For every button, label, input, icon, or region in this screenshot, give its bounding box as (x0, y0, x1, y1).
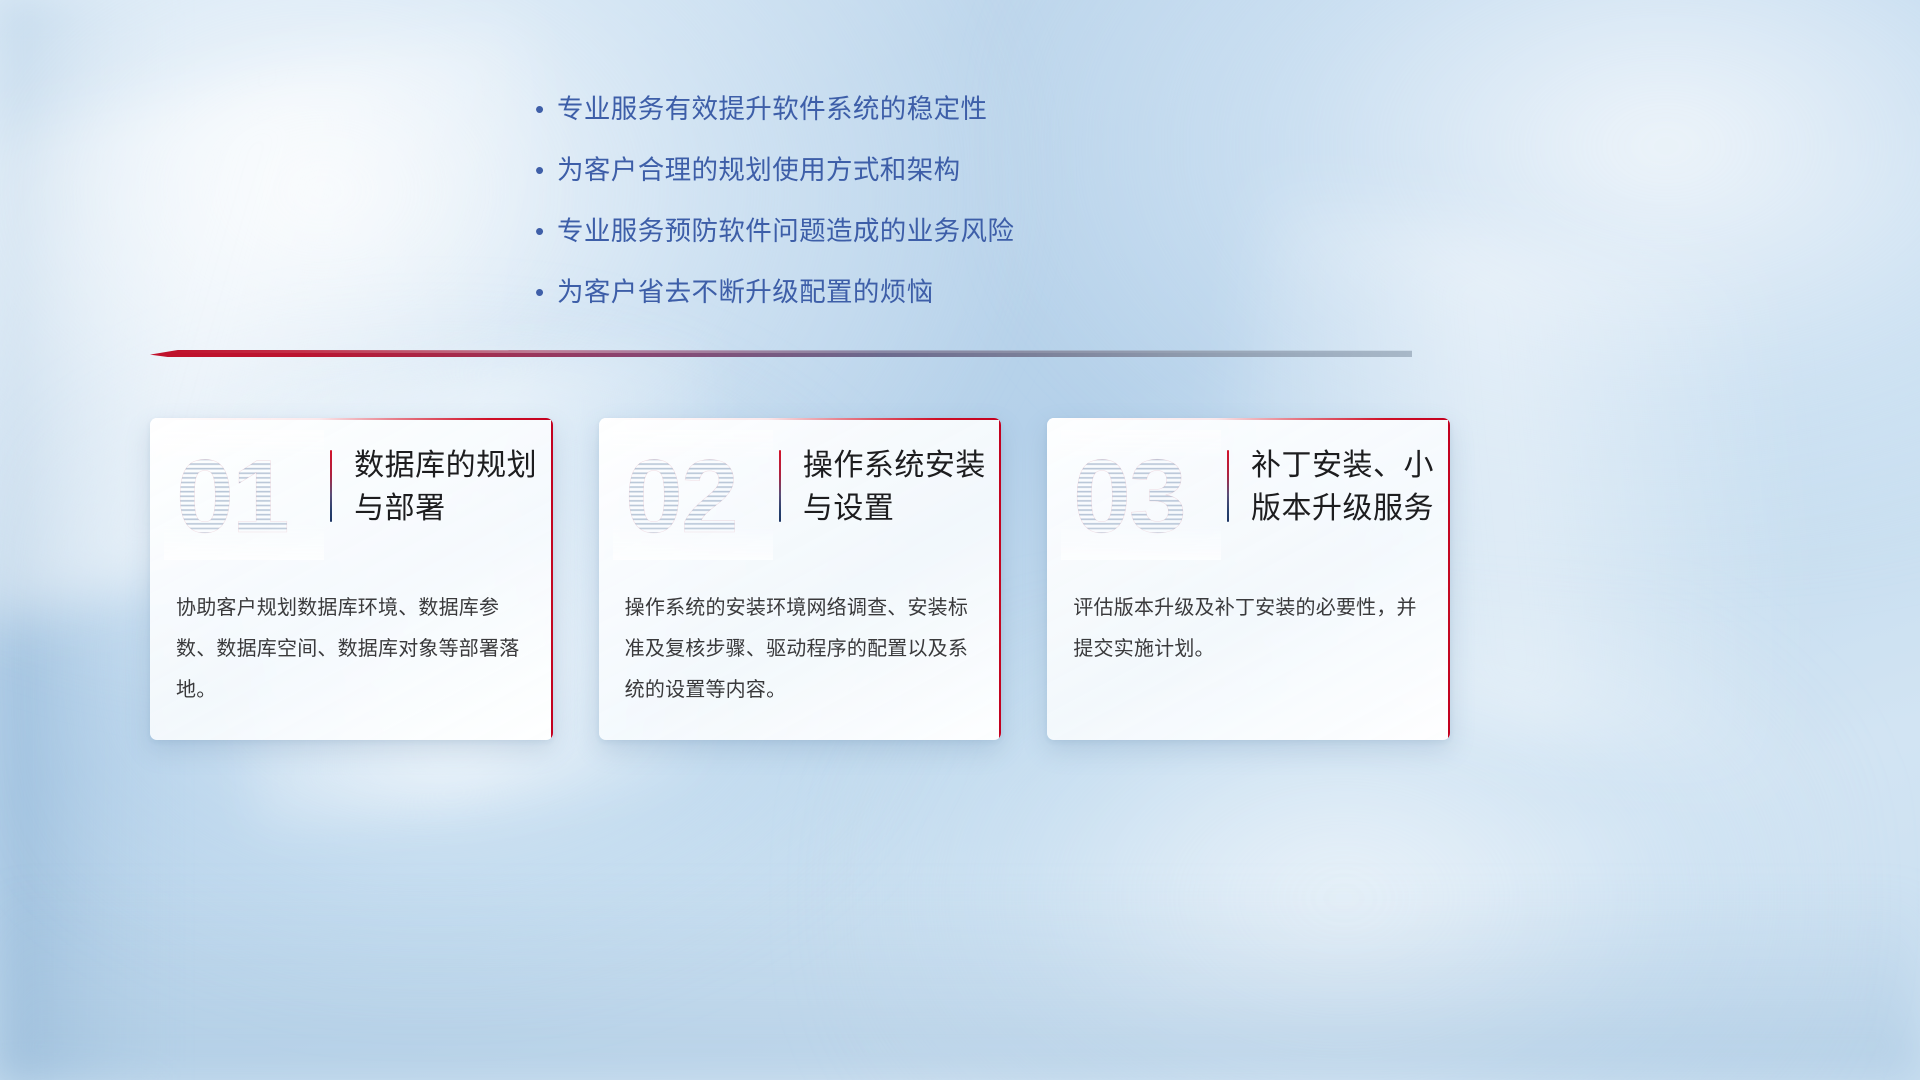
card-title-02: 操作系统安装与设置 (803, 444, 1002, 530)
service-card-03[interactable]: 03 03 补丁安装、小版本升级服务 评估版本升级及补丁安装的必要性，并提交实施… (1047, 418, 1450, 740)
card-title-03: 补丁安装、小版本升级服务 (1251, 444, 1450, 530)
bullet-text-4: 为客户省去不断升级配置的烦恼 (557, 275, 934, 309)
card-body-02: 操作系统的安装环境网络调查、安装标准及复核步骤、驱动程序的配置以及系统的设置等内… (625, 588, 976, 711)
service-card-row: 01 01 数据库的规划与部署 协助客户规划数据库环境、数据库参数、数据库空间、… (150, 418, 1450, 743)
section-divider (150, 346, 1412, 362)
card-title-accent-bar-02 (779, 450, 781, 522)
bullet-item-1: • 专业服务有效提升软件系统的稳定性 (535, 92, 1175, 126)
svg-text:03: 03 (1073, 440, 1185, 550)
ghost-number-02-icon: 02 02 (623, 440, 763, 550)
card-body-03: 评估版本升级及补丁安装的必要性，并提交实施计划。 (1073, 588, 1424, 670)
bullet-text-3: 专业服务预防软件问题造成的业务风险 (557, 214, 1014, 248)
service-card-01[interactable]: 01 01 数据库的规划与部署 协助客户规划数据库环境、数据库参数、数据库空间、… (150, 418, 553, 740)
card-title-group-03: 补丁安装、小版本升级服务 (1227, 444, 1450, 530)
card-title-group-02: 操作系统安装与设置 (779, 444, 1002, 530)
svg-text:02: 02 (625, 440, 737, 550)
card-title-01: 数据库的规划与部署 (354, 444, 553, 530)
bullet-item-2: • 为客户合理的规划使用方式和架构 (535, 153, 1175, 187)
divider-sheen (169, 350, 1406, 353)
benefit-bullet-list: • 专业服务有效提升软件系统的稳定性 • 为客户合理的规划使用方式和架构 • 专… (535, 92, 1175, 336)
bullet-item-4: • 为客户省去不断升级配置的烦恼 (535, 275, 1175, 309)
bullet-marker-icon: • (535, 153, 557, 187)
ghost-number-03-icon: 03 03 (1071, 440, 1211, 550)
svg-text:01: 01 (176, 440, 288, 550)
bullet-item-3: • 专业服务预防软件问题造成的业务风险 (535, 214, 1175, 248)
card-header-02: 02 02 操作系统安装与设置 (599, 418, 1002, 568)
card-header-01: 01 01 数据库的规划与部署 (150, 418, 553, 568)
ghost-number-01-icon: 01 01 (174, 440, 314, 550)
card-body-01: 协助客户规划数据库环境、数据库参数、数据库空间、数据库对象等部署落地。 (176, 588, 527, 711)
bullet-marker-icon: • (535, 275, 557, 309)
card-title-accent-bar-01 (330, 450, 332, 522)
service-card-02[interactable]: 02 02 操作系统安装与设置 操作系统的安装环境网络调查、安装标准及复核步骤、… (599, 418, 1002, 740)
card-title-group-01: 数据库的规划与部署 (330, 444, 553, 530)
bullet-marker-icon: • (535, 92, 557, 126)
card-header-03: 03 03 补丁安装、小版本升级服务 (1047, 418, 1450, 568)
bullet-marker-icon: • (535, 214, 557, 248)
bullet-text-1: 专业服务有效提升软件系统的稳定性 (557, 92, 987, 126)
background-bottom-shade (0, 886, 1920, 1080)
bullet-text-2: 为客户合理的规划使用方式和架构 (557, 153, 961, 187)
card-title-accent-bar-03 (1227, 450, 1229, 522)
